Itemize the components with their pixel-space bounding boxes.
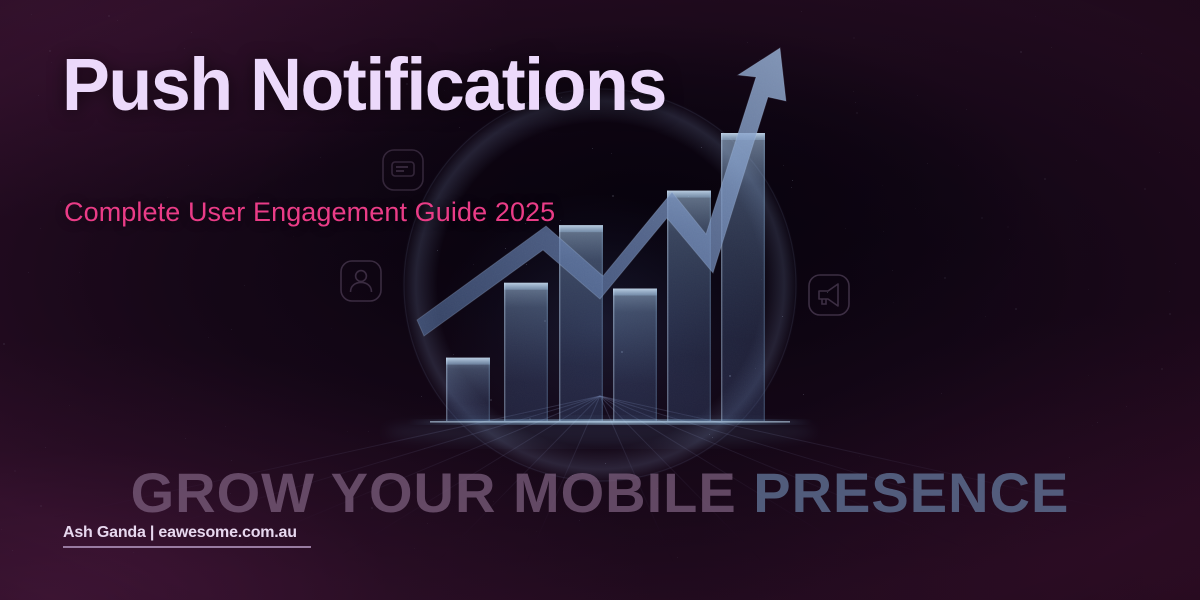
vignette-overlay — [0, 0, 1200, 600]
banner-canvas: GROW YOUR MOBILE PRESENCE Push Notificat… — [0, 0, 1200, 600]
